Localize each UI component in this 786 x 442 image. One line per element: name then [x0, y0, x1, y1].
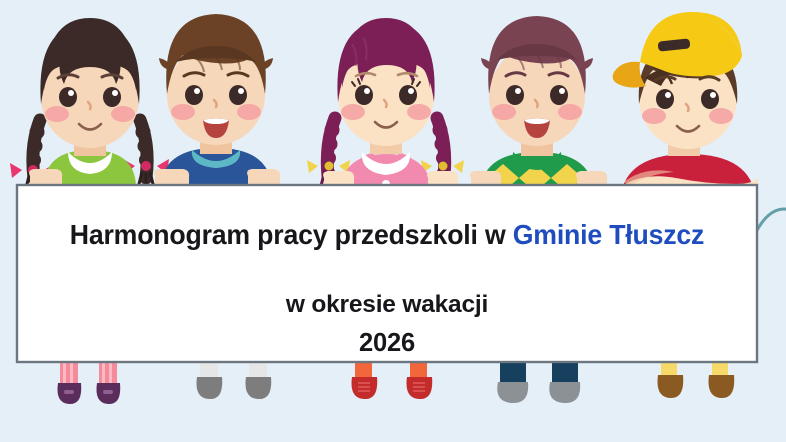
poster-canvas: Harmonogram pracy przedszkoli w Gminie T… — [0, 0, 786, 442]
illustration-children-holding-banner — [0, 0, 786, 442]
banner-board — [17, 185, 757, 362]
